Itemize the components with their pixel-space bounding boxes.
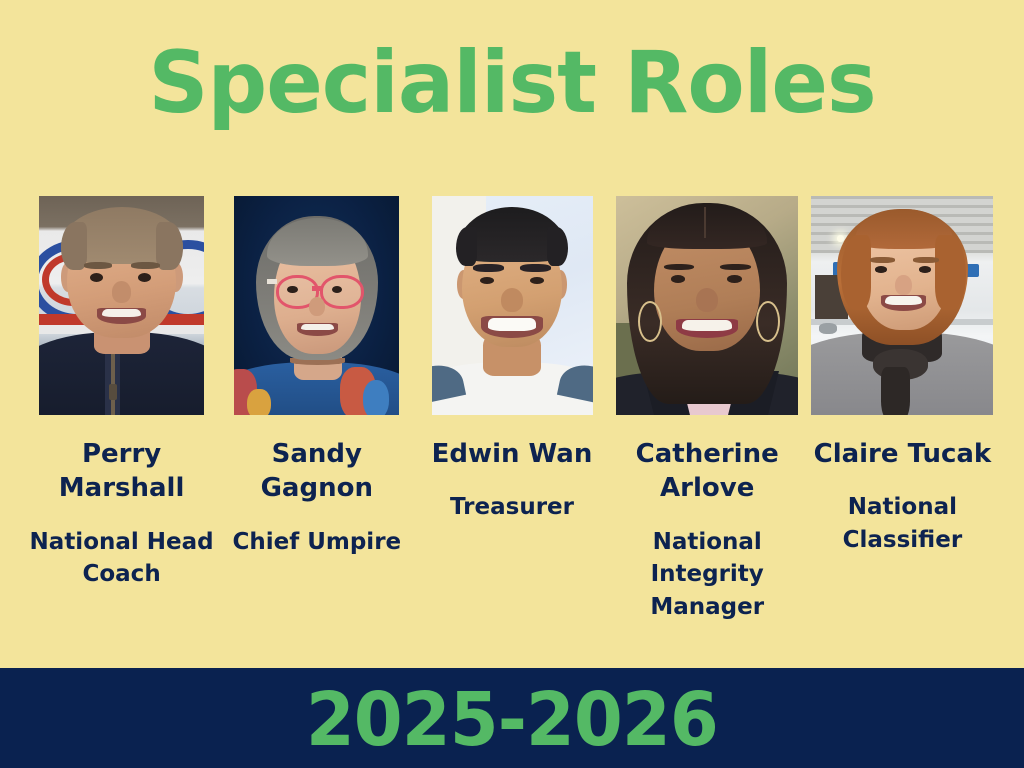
person-name: Claire Tucak	[814, 437, 992, 471]
portrait-photo-1	[39, 196, 204, 415]
person-card: Edwin Wan Treasurer	[414, 196, 609, 524]
poster-root: Specialist Roles	[0, 0, 1024, 768]
person-role: National Integrity Manager	[614, 526, 800, 624]
person-role: Chief Umpire	[232, 526, 401, 559]
person-card: Claire Tucak National Classifier	[805, 196, 1000, 557]
banner-year-label: 2025-2026	[306, 683, 718, 757]
people-row: Perry Marshall National Head Coach	[0, 196, 1024, 656]
year-banner: 2025-2026	[0, 668, 1024, 768]
portrait-photo-3	[432, 196, 593, 415]
portrait-photo-2	[234, 196, 399, 415]
person-card: Catherine Arlove National Integrity Mana…	[610, 196, 805, 624]
person-role: National Head Coach	[29, 526, 215, 591]
page-title: Specialist Roles	[15, 38, 1008, 128]
portrait-photo-4	[616, 196, 798, 415]
person-card: Perry Marshall National Head Coach	[24, 196, 219, 591]
person-name: Sandy Gagnon	[222, 437, 412, 506]
person-role: National Classifier	[809, 491, 995, 556]
person-name: Perry Marshall	[27, 437, 217, 506]
person-role: Treasurer	[450, 491, 574, 524]
person-name: Catherine Arlove	[612, 437, 802, 506]
person-card: Sandy Gagnon Chief Umpire	[219, 196, 414, 558]
person-name: Edwin Wan	[432, 437, 593, 471]
portrait-photo-5	[811, 196, 993, 415]
